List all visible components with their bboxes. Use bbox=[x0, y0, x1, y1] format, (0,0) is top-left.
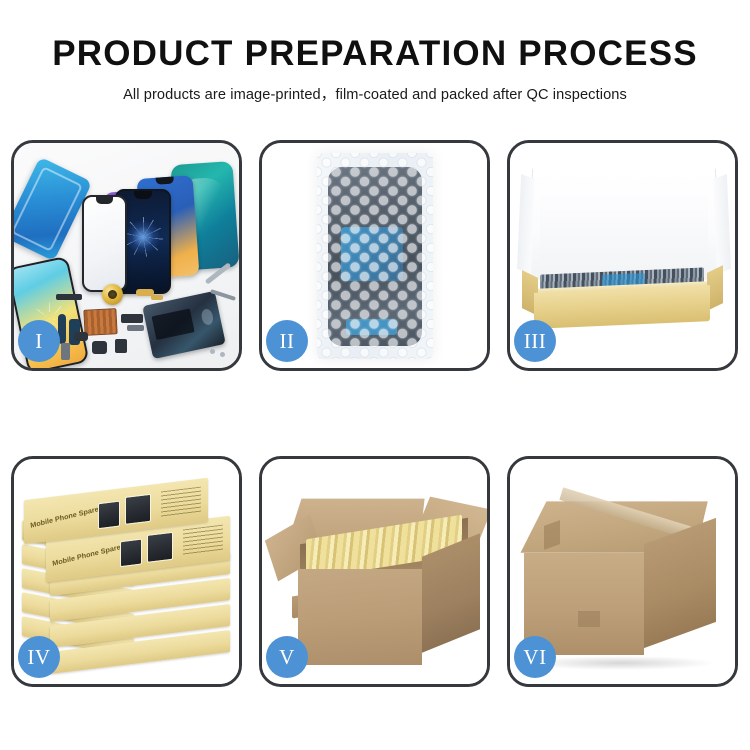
mailer-front-wall bbox=[534, 285, 710, 329]
step-badge-4: IV bbox=[18, 636, 60, 678]
page-subtitle: All products are image-printed，film-coat… bbox=[0, 83, 750, 104]
box-screen-graphic-1b bbox=[125, 494, 151, 525]
process-step-6: VI bbox=[507, 456, 738, 687]
process-step-2: II bbox=[259, 140, 490, 371]
product-preparation-infographic: PRODUCT PREPARATION PROCESS All products… bbox=[0, 0, 750, 750]
sealed-carton-tape-tab-bottom bbox=[578, 611, 600, 627]
sim-tray bbox=[61, 343, 70, 360]
connector-2 bbox=[127, 325, 144, 331]
bubble-wrap-pouch bbox=[317, 153, 433, 359]
box-screen-graphic-1a bbox=[98, 501, 120, 530]
step-badge-3: III bbox=[514, 320, 556, 362]
small-part-1 bbox=[56, 294, 82, 300]
carton-front-face bbox=[298, 569, 422, 665]
step-badge-2: II bbox=[266, 320, 308, 362]
process-step-3: III bbox=[507, 140, 738, 371]
screw-1 bbox=[220, 352, 225, 357]
connector-3 bbox=[74, 332, 88, 341]
process-step-5: V bbox=[259, 456, 490, 687]
page-title: PRODUCT PREPARATION PROCESS bbox=[0, 34, 750, 74]
front-glass-panel bbox=[82, 195, 127, 292]
step-badge-6: VI bbox=[514, 636, 556, 678]
adhesive-frame-part bbox=[14, 157, 92, 262]
bubble-texture bbox=[317, 153, 433, 359]
process-step-4: Mobile Phone Spare Parts Mobile Phone Sp… bbox=[11, 456, 242, 687]
process-step-1: I bbox=[11, 140, 242, 371]
process-step-grid: I II III bbox=[11, 140, 739, 687]
connector-1 bbox=[121, 314, 143, 323]
header: PRODUCT PREPARATION PROCESS All products… bbox=[0, 34, 750, 104]
speaker-coil-part bbox=[102, 284, 123, 305]
step-badge-5: V bbox=[266, 636, 308, 678]
box-spec-lines-2 bbox=[183, 525, 223, 556]
foam-liner bbox=[540, 195, 708, 269]
box-screen-graphic-2b bbox=[147, 532, 173, 563]
step-badge-1: I bbox=[18, 320, 60, 362]
box-screen-graphic-2a bbox=[120, 539, 142, 568]
camera-module bbox=[92, 341, 107, 354]
screw-2 bbox=[210, 349, 215, 354]
box-spec-lines-1 bbox=[161, 487, 201, 518]
battery-connector bbox=[115, 339, 127, 353]
copper-shield-part bbox=[83, 308, 117, 336]
small-part-3 bbox=[151, 295, 163, 300]
